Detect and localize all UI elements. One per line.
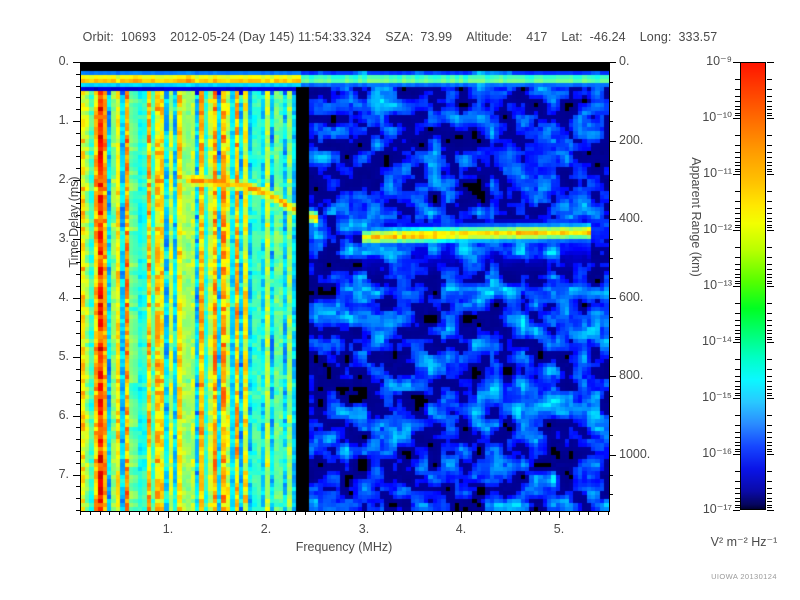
colorbar-minor-tick-right <box>767 165 772 166</box>
x-tick-label-4: 5. <box>519 522 599 536</box>
colorbar-minor-tick-right <box>767 169 772 170</box>
colorbar-minor-tick-right <box>767 89 772 90</box>
colorbar-major-tick-right <box>767 398 774 399</box>
colorbar-major-tick-left <box>733 510 740 511</box>
colorbar-minor-tick-right <box>767 376 772 377</box>
colorbar-major-tick-left <box>733 454 740 455</box>
colorbar-tick-label-8: 10⁻¹⁷ <box>670 501 732 516</box>
y-right-tick-label-3: 600. <box>619 290 643 304</box>
y-left-tick-label-4: 4. <box>0 290 69 304</box>
y-left-tick-label-2: 2. <box>0 172 69 186</box>
x-axis-title: Frequency (MHz) <box>80 540 608 554</box>
colorbar-major-tick-left <box>733 286 740 287</box>
colorbar-minor-tick-right <box>767 393 772 394</box>
colorbar-minor-tick-right <box>767 257 772 258</box>
colorbar-minor-tick-right <box>767 510 772 511</box>
y-left-major-tick <box>73 416 80 417</box>
colorbar-major-tick-right <box>767 62 774 63</box>
y-left-major-tick <box>73 62 80 63</box>
colorbar-minor-tick-right <box>767 135 772 136</box>
colorbar-minor-tick-right <box>767 201 772 202</box>
colorbar-major-tick-right <box>767 510 774 511</box>
colorbar-minor-tick-right <box>767 442 772 443</box>
colorbar-minor-tick-right <box>767 152 772 153</box>
colorbar-minor-tick-right <box>767 339 772 340</box>
y-right-major-tick <box>609 455 616 456</box>
long-value: 333.57 <box>679 30 718 44</box>
colorbar-minor-tick-right <box>767 174 772 175</box>
y-left-tick-label-1: 1. <box>0 113 69 127</box>
colorbar-minor-tick-right <box>767 79 772 80</box>
colorbar-minor-tick-right <box>767 369 772 370</box>
x-major-tick <box>364 511 365 518</box>
ionogram-page: Orbit:106932012-05-24 (Day 145) 11:54:33… <box>0 0 800 600</box>
y-axis-left-title: Time Delay (ms) <box>67 142 81 302</box>
y-right-tick-label-5: 1000. <box>619 447 650 461</box>
colorbar-minor-tick-right <box>767 283 772 284</box>
y-axis-right-title: Apparent Range (km) <box>689 117 703 317</box>
colorbar-minor-tick-right <box>767 330 772 331</box>
colorbar-minor-tick-right <box>767 101 772 102</box>
colorbar-minor-tick-right <box>767 118 772 119</box>
colorbar-minor-tick-right <box>767 454 772 455</box>
ionogram-plot-area <box>80 62 610 512</box>
colorbar-minor-tick-right <box>767 325 772 326</box>
colorbar-minor-tick-right <box>767 109 772 110</box>
colorbar-major-tick-left <box>733 230 740 231</box>
y-right-major-tick <box>609 219 616 220</box>
colorbar-major-tick-right <box>767 230 774 231</box>
colorbar-minor-tick-right <box>767 113 772 114</box>
altitude-value: 417 <box>526 30 547 44</box>
colorbar-minor-tick-right <box>767 501 772 502</box>
colorbar-minor-tick-right <box>767 303 772 304</box>
y-left-tick-label-5: 5. <box>0 349 69 363</box>
y-right-tick-label-1: 200. <box>619 133 643 147</box>
orbit-value: 10693 <box>121 30 156 44</box>
colorbar-major-tick-left <box>733 118 740 119</box>
colorbar-minor-tick-left <box>735 510 740 511</box>
colorbar-minor-tick-right <box>767 227 772 228</box>
y-left-tick-label-0: 0. <box>0 54 69 68</box>
colorbar-minor-tick-right <box>767 230 772 231</box>
colorbar-minor-tick-right <box>767 493 772 494</box>
colorbar-units-label: V² m⁻² Hz⁻¹ <box>688 534 800 549</box>
plot-header: Orbit:106932012-05-24 (Day 145) 11:54:33… <box>0 30 800 44</box>
colorbar-minor-tick-right <box>767 221 772 222</box>
colorbar-minor-tick-right <box>767 96 772 97</box>
y-left-major-tick <box>73 475 80 476</box>
colorbar-minor-tick-right <box>767 106 772 107</box>
colorbar-major-tick-right <box>767 174 774 175</box>
colorbar-major-tick-left <box>733 398 740 399</box>
long-label: Long: <box>640 30 672 44</box>
colorbar-minor-tick-right <box>767 498 772 499</box>
x-major-tick <box>168 511 169 518</box>
colorbar-minor-tick-right <box>767 208 772 209</box>
y-right-tick-label-0: 0. <box>619 54 629 68</box>
colorbar-minor-tick-right <box>767 432 772 433</box>
colorbar-minor-tick-right <box>767 395 772 396</box>
colorbar-major-tick-right <box>767 286 774 287</box>
colorbar-minor-tick-right <box>767 269 772 270</box>
colorbar-major-tick-left <box>733 62 740 63</box>
lat-label: Lat: <box>561 30 582 44</box>
colorbar-minor-tick-right <box>767 277 772 278</box>
lat-value: -46.24 <box>590 30 626 44</box>
colorbar-minor-tick-right <box>767 162 772 163</box>
colorbar-minor-tick-right <box>767 157 772 158</box>
ionogram-heatmap-canvas <box>81 63 609 511</box>
colorbar-minor-tick-right <box>767 481 772 482</box>
y-right-major-tick <box>609 62 616 63</box>
colorbar-tick-label-6: 10⁻¹⁵ <box>670 389 732 404</box>
y-left-tick-label-7: 7. <box>0 467 69 481</box>
colorbar-minor-tick-right <box>767 247 772 248</box>
colorbar-minor-tick-right <box>767 191 772 192</box>
y-right-major-tick <box>609 141 616 142</box>
colorbar-minor-tick-right <box>767 225 772 226</box>
colorbar-minor-tick-right <box>767 313 772 314</box>
colorbar-minor-tick-right <box>767 218 772 219</box>
x-tick-label-3: 4. <box>421 522 501 536</box>
colorbar-major-tick-left <box>733 174 740 175</box>
colorbar-tick-label-7: 10⁻¹⁶ <box>670 445 732 460</box>
colorbar-minor-tick-right <box>767 213 772 214</box>
colorbar-major-tick-right <box>767 454 774 455</box>
colorbar-tick-label-0: 10⁻⁹ <box>670 53 732 68</box>
colorbar-minor-tick-right <box>767 359 772 360</box>
colorbar-minor-tick-right <box>767 171 772 172</box>
colorbar-minor-tick-right <box>767 320 772 321</box>
colorbar-minor-tick-right <box>767 264 772 265</box>
observation-datetime: 2012-05-24 (Day 145) 11:54:33.324 <box>170 30 371 44</box>
x-major-tick <box>266 511 267 518</box>
colorbar-minor-tick-right <box>767 286 772 287</box>
altitude-label: Altitude: <box>466 30 512 44</box>
colorbar-minor-tick-right <box>767 471 772 472</box>
colorbar-minor-tick-right <box>767 451 772 452</box>
colorbar-minor-tick-right <box>767 115 772 116</box>
colorbar-minor-tick-right <box>767 415 772 416</box>
colorbar-gradient <box>740 62 766 510</box>
colorbar-minor-tick-right <box>767 342 772 343</box>
x-major-tick <box>461 511 462 518</box>
colorbar <box>740 62 766 510</box>
colorbar-major-tick-right <box>767 342 774 343</box>
colorbar-minor-tick-right <box>767 386 772 387</box>
x-major-tick <box>559 511 560 518</box>
y-left-major-tick <box>73 357 80 358</box>
colorbar-minor-tick-right <box>767 145 772 146</box>
colorbar-minor-tick-right <box>767 505 772 506</box>
footer-credit: UIOWA 20130124 <box>688 572 800 581</box>
colorbar-minor-tick-right <box>767 398 772 399</box>
colorbar-major-tick-right <box>767 118 774 119</box>
colorbar-minor-tick-right <box>767 507 772 508</box>
orbit-label: Orbit: <box>83 30 114 44</box>
colorbar-minor-tick-right <box>767 333 772 334</box>
colorbar-minor-tick-right <box>767 449 772 450</box>
colorbar-tick-label-5: 10⁻¹⁴ <box>670 333 732 348</box>
y-right-major-tick <box>609 298 616 299</box>
colorbar-minor-tick-right <box>767 425 772 426</box>
x-tick-label-0: 1. <box>128 522 208 536</box>
y-left-major-tick <box>73 121 80 122</box>
y-right-major-tick <box>609 376 616 377</box>
colorbar-minor-tick-right <box>767 337 772 338</box>
colorbar-minor-tick-right <box>767 389 772 390</box>
colorbar-minor-tick-right <box>767 281 772 282</box>
colorbar-major-tick-left <box>733 342 740 343</box>
colorbar-minor-tick-right <box>767 274 772 275</box>
x-tick-label-1: 2. <box>226 522 306 536</box>
y-left-tick-label-6: 6. <box>0 408 69 422</box>
x-tick-label-2: 3. <box>324 522 404 536</box>
colorbar-minor-tick-right <box>767 437 772 438</box>
y-left-tick-label-3: 3. <box>0 231 69 245</box>
sza-label: SZA: <box>385 30 413 44</box>
colorbar-minor-tick-right <box>767 488 772 489</box>
colorbar-minor-tick-right <box>767 445 772 446</box>
colorbar-minor-tick-right <box>767 381 772 382</box>
sza-value: 73.99 <box>420 30 452 44</box>
y-right-tick-label-4: 800. <box>619 368 643 382</box>
y-right-tick-label-2: 400. <box>619 211 643 225</box>
